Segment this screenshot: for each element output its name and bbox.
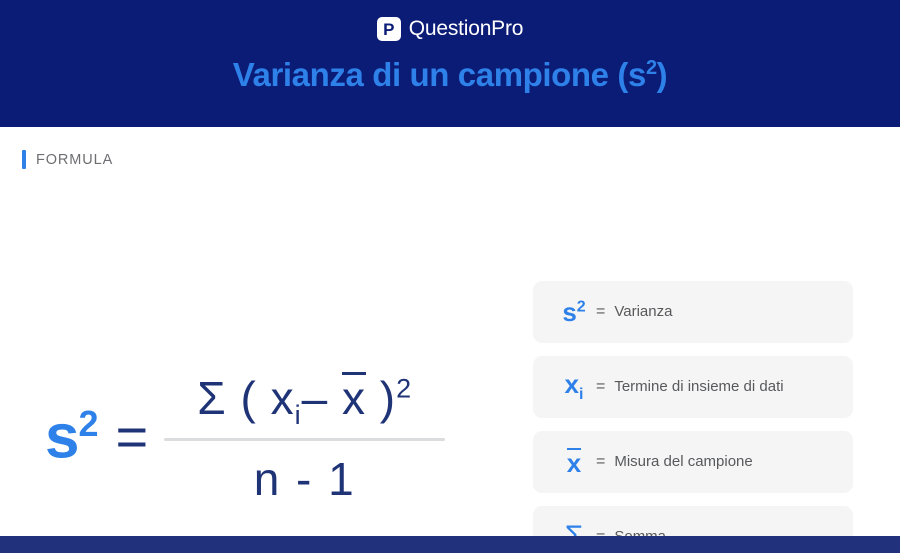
variance-formula: s2 = Σ ( xi– x )2 n - 1 — [45, 372, 445, 503]
legend-list: s2 = Varianza xi = Termine di insieme di… — [533, 281, 853, 553]
legend-description: Termine di insieme di dati — [614, 378, 783, 397]
numerator-xbar: x — [342, 372, 366, 420]
page-footer-bar — [0, 536, 900, 553]
legend-symbol: s2 — [557, 299, 591, 325]
open-paren: ( — [241, 372, 257, 424]
page-title-superscript: 2 — [646, 57, 657, 79]
page-title-close-paren: ) — [657, 56, 668, 93]
legend-symbol: x — [557, 448, 591, 476]
formula-lhs-exponent: 2 — [78, 403, 97, 444]
legend-equals: = — [596, 303, 605, 321]
brand-logo: P QuestionPro — [377, 17, 524, 41]
legend-description: Varianza — [614, 303, 672, 322]
formula-equals: = — [116, 409, 149, 465]
legend-symbol-base: x — [565, 369, 579, 399]
numerator-exponent: 2 — [396, 374, 412, 404]
legend-description: Misura del campione — [614, 453, 752, 472]
formula-lhs: s2 — [45, 406, 98, 469]
formula-section-label: FORMULA — [22, 150, 113, 169]
numerator-x-subscript: i — [295, 400, 302, 430]
infographic-page: P QuestionPro Varianza di un campione (s… — [0, 0, 900, 553]
accent-bar — [22, 150, 26, 169]
formula-denominator: n - 1 — [254, 441, 356, 503]
formula-label-text: FORMULA — [36, 152, 113, 168]
legend-symbol: xi — [557, 371, 591, 403]
legend-item-data-term: xi = Termine di insieme di dati — [533, 356, 853, 418]
formula-numerator: Σ ( xi– x )2 — [183, 372, 426, 438]
numerator-x: x — [271, 372, 295, 424]
page-header: P QuestionPro Varianza di un campione (s… — [0, 0, 900, 127]
legend-equals: = — [596, 453, 605, 471]
legend-symbol-base: s — [562, 297, 576, 327]
formula-fraction: Σ ( xi– x )2 n - 1 — [164, 372, 445, 503]
content-area: FORMULA s2 = Σ ( xi– x )2 n - 1 s2 = Var… — [0, 127, 900, 536]
legend-equals: = — [596, 378, 605, 396]
legend-symbol-sup: 2 — [577, 298, 586, 315]
formula-lhs-symbol: s — [45, 403, 78, 472]
questionpro-logo-icon: P — [377, 17, 401, 41]
numerator-minus: – — [302, 372, 329, 424]
legend-symbol-sub: i — [579, 386, 583, 403]
legend-symbol-base: x — [567, 448, 581, 476]
close-paren: ) — [380, 372, 396, 424]
sigma-icon: Σ — [197, 372, 226, 424]
page-title: Varianza di un campione (s2) — [233, 57, 668, 93]
brand-name: QuestionPro — [409, 17, 524, 41]
legend-item-variance: s2 = Varianza — [533, 281, 853, 343]
page-title-text: Varianza di un campione (s — [233, 56, 646, 93]
legend-item-sample-mean: x = Misura del campione — [533, 431, 853, 493]
